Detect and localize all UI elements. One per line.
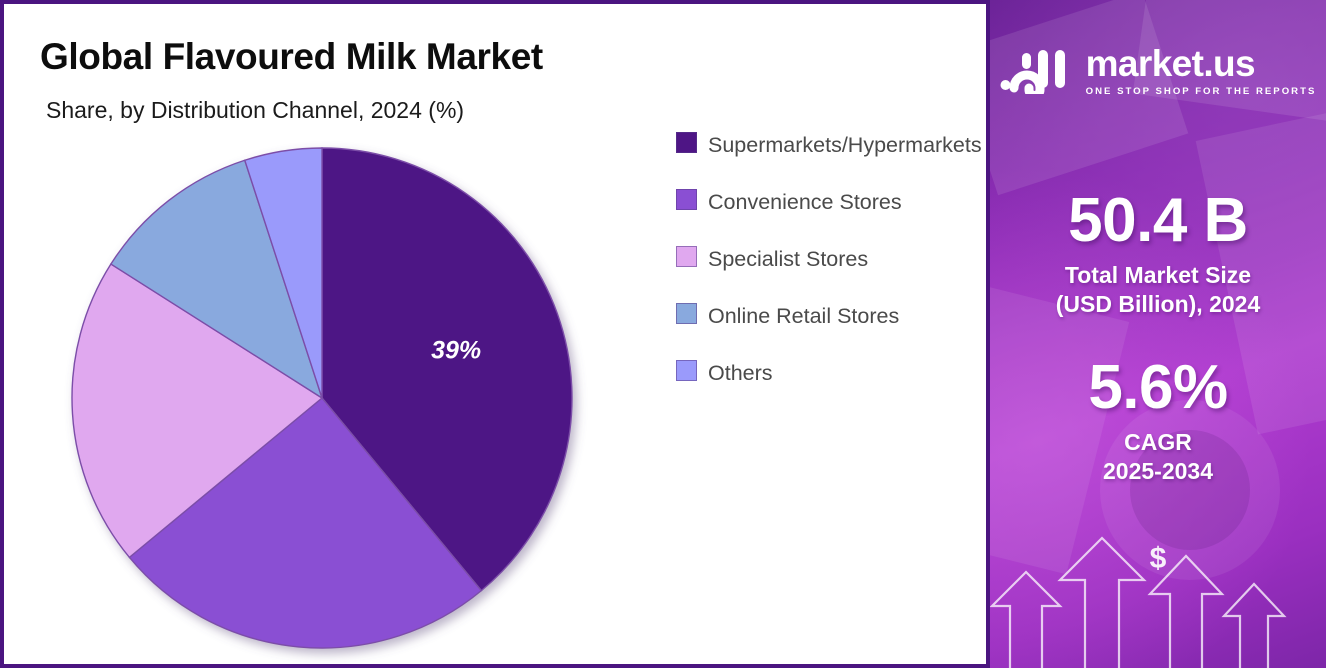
growth-arrows-icon (990, 528, 1326, 668)
stat-cagr: 5.6% CAGR 2025-2034 (990, 355, 1326, 486)
legend-label: Supermarkets/Hypermarkets (708, 128, 958, 164)
legend-item[interactable]: Specialist Stores (676, 242, 976, 278)
stat-caption: Total Market Size (USD Billion), 2024 (990, 261, 1326, 319)
legend-item[interactable]: Convenience Stores (676, 185, 976, 221)
logo-text: market.us ONE STOP SHOP FOR THE REPORTS (1086, 45, 1317, 97)
legend-item[interactable]: Others (676, 356, 976, 392)
brand-logo: market.us ONE STOP SHOP FOR THE REPORTS (990, 45, 1326, 97)
legend-label: Others (708, 356, 773, 392)
stat-caption-line: (USD Billion), 2024 (990, 290, 1326, 319)
stat-caption-line: CAGR (990, 428, 1326, 457)
legend-item[interactable]: Online Retail Stores (676, 299, 976, 335)
stat-caption-line: 2025-2034 (990, 457, 1326, 486)
legend-color-swatch (676, 189, 697, 210)
stats-sidebar: market.us ONE STOP SHOP FOR THE REPORTS … (990, 0, 1326, 668)
stat-market-size: 50.4 B Total Market Size (USD Billion), … (990, 188, 1326, 319)
stat-caption-line: Total Market Size (990, 261, 1326, 290)
infographic-canvas: Global Flavoured Milk Market Share, by D… (0, 0, 1326, 668)
market-us-logo-icon (1000, 48, 1074, 94)
logo-wordmark: market.us (1086, 45, 1317, 82)
legend-label: Online Retail Stores (708, 299, 899, 335)
stat-value: 50.4 B (990, 188, 1326, 253)
legend-color-swatch (676, 360, 697, 381)
pie-label-group: 39% (431, 337, 481, 365)
stat-value: 5.6% (990, 355, 1326, 420)
pie-slice-label: 39% (431, 337, 481, 365)
pie-chart-svg: 39% (62, 138, 592, 668)
stat-caption: CAGR 2025-2034 (990, 428, 1326, 486)
chart-panel: Global Flavoured Milk Market Share, by D… (0, 0, 990, 668)
page-title: Global Flavoured Milk Market (40, 36, 543, 78)
pie-slice-group (72, 148, 572, 648)
legend-label: Specialist Stores (708, 242, 868, 278)
chart-subtitle: Share, by Distribution Channel, 2024 (%) (46, 97, 464, 124)
legend-color-swatch (676, 246, 697, 267)
legend-color-swatch (676, 132, 697, 153)
pie-chart: 39% (62, 138, 592, 668)
legend-label: Convenience Stores (708, 185, 902, 221)
logo-tagline: ONE STOP SHOP FOR THE REPORTS (1086, 86, 1317, 97)
chart-legend: Supermarkets/HypermarketsConvenience Sto… (676, 128, 976, 412)
legend-color-swatch (676, 303, 697, 324)
legend-item[interactable]: Supermarkets/Hypermarkets (676, 128, 976, 164)
